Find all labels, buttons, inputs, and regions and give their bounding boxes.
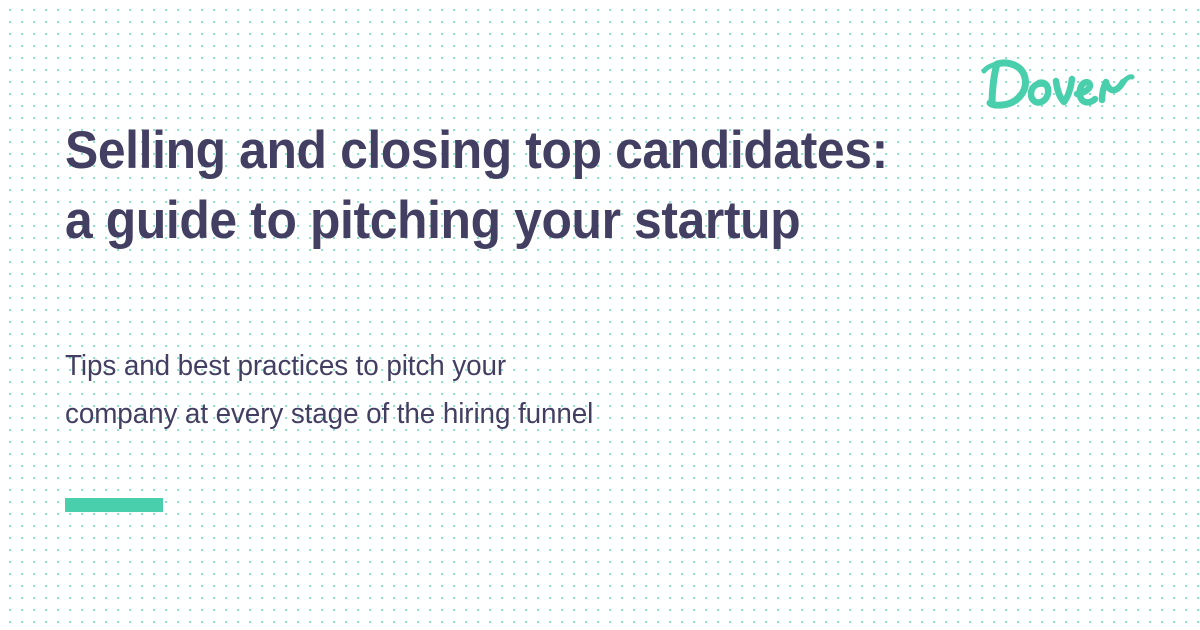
headline-line-2: a guide to pitching your startup xyxy=(65,186,911,256)
dover-logo xyxy=(978,52,1138,116)
headline-line-1: Selling and closing top candidates: xyxy=(65,116,911,186)
accent-bar xyxy=(65,498,163,512)
page-title: Selling and closing top candidates: a gu… xyxy=(65,116,965,256)
subheadline-line-1: Tips and best practices to pitch your xyxy=(65,342,891,390)
page-subtitle: Tips and best practices to pitch your co… xyxy=(65,342,925,438)
subheadline-line-2: company at every stage of the hiring fun… xyxy=(65,390,891,438)
social-card-content: Selling and closing top candidates: a gu… xyxy=(0,0,1200,630)
dover-wordmark-script-icon xyxy=(978,52,1138,116)
